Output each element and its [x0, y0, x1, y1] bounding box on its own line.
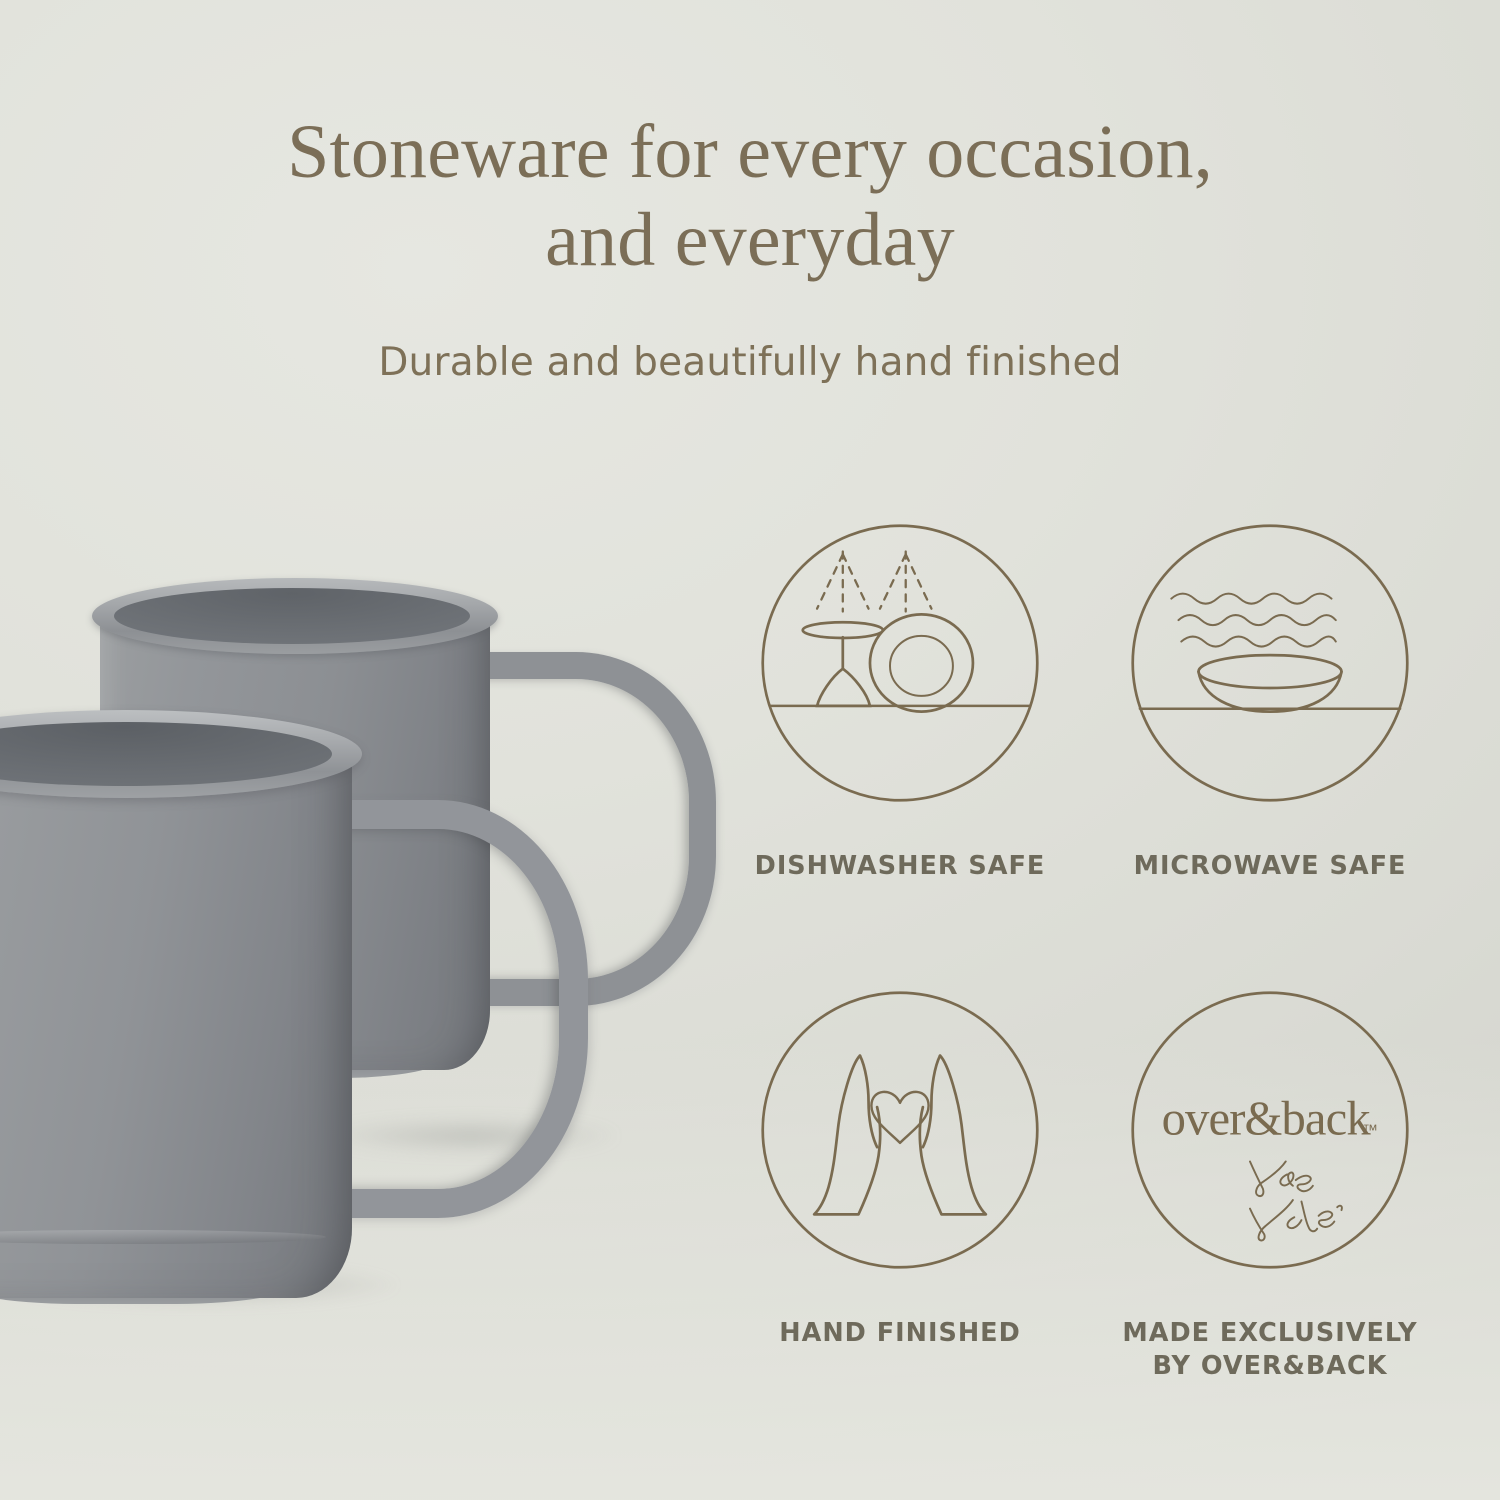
brand-trademark: ™ [1362, 1123, 1378, 1140]
badge-caption: DISHWASHER SAFE [755, 850, 1046, 883]
hands-heart-icon [757, 987, 1043, 1273]
feature-badge-grid: DISHWASHER SAFE [720, 520, 1450, 1450]
mug-front [0, 690, 420, 1310]
dishwasher-icon [757, 520, 1043, 806]
product-photo [0, 520, 720, 1340]
badge-dishwasher-safe: DISHWASHER SAFE [720, 520, 1080, 983]
badge-caption: MADE EXCLUSIVELY BY OVER&BACK [1122, 1317, 1417, 1382]
headline-line-1: Stoneware for every occasion, [0, 108, 1500, 196]
badge-caption: MICROWAVE SAFE [1134, 850, 1407, 883]
badge-hand-finished: HAND FINISHED [720, 987, 1080, 1450]
page-subtitle: Durable and beautifully hand finished [0, 340, 1500, 385]
badge-caption: HAND FINISHED [779, 1317, 1021, 1350]
badge-microwave-safe: MICROWAVE SAFE [1090, 520, 1450, 983]
page-title: Stoneware for every occasion, and everyd… [0, 108, 1500, 284]
microwave-icon [1127, 520, 1413, 806]
brand-tagline-script [1250, 1161, 1342, 1240]
mug-front-body [0, 738, 352, 1298]
product-infographic: Stoneware for every occasion, and everyd… [0, 0, 1500, 1500]
mug-back-interior [114, 588, 470, 644]
brand-logo-icon: over&back ™ [1127, 987, 1413, 1273]
headline-line-2: and everyday [0, 196, 1500, 284]
brand-name: over&back [1162, 1091, 1372, 1145]
badge-made-exclusively: over&back ™ MADE EXCLUSIVELY BY [1090, 987, 1450, 1450]
